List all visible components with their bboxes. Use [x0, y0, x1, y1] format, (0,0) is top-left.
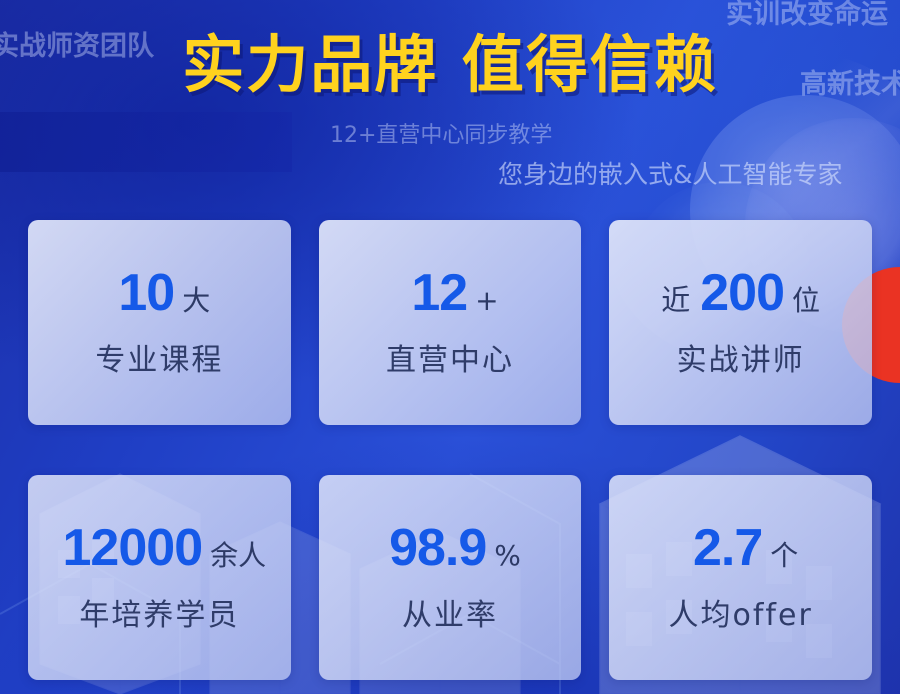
- stat-card-offers[interactable]: 2.7 个 人均offer: [609, 475, 872, 680]
- stat-card-employment-rate[interactable]: 98.9 % 从业率: [319, 475, 582, 680]
- stat-label: 年培养学员: [79, 590, 239, 634]
- stat-label: 从业率: [402, 590, 498, 634]
- stat-label: 人均offer: [669, 590, 813, 634]
- stat-card-instructors[interactable]: 近 200 位 实战讲师: [609, 220, 872, 425]
- stat-suffix: 余人: [210, 542, 266, 570]
- stats-grid: 10 大 专业课程 12 + 直营中心 近 200 位 实战讲师: [28, 220, 872, 680]
- subtitle-secondary: 您身边的嵌入式&人工智能专家: [498, 155, 843, 191]
- promo-banner: 实力品牌 值得信赖 实战师资团队 实训改变命运 高新技术 12+直营中心同步教学…: [0, 0, 900, 694]
- stat-number: 200: [700, 267, 784, 319]
- stat-number: 98.9: [389, 522, 486, 574]
- stat-suffix: 大: [182, 287, 210, 315]
- stat-number: 12000: [63, 522, 203, 574]
- stat-card-centers[interactable]: 12 + 直营中心: [319, 220, 582, 425]
- stat-suffix: 位: [792, 287, 820, 315]
- stat-value-line: 10 大: [108, 267, 210, 319]
- stat-number: 12: [411, 267, 467, 319]
- page-title: 实力品牌 值得信赖: [0, 14, 900, 104]
- stat-label: 实战讲师: [677, 335, 805, 379]
- stat-suffix: 个: [770, 542, 798, 570]
- background-dark-band: [0, 112, 292, 172]
- stat-value-line: 12 +: [401, 267, 498, 319]
- subtitle-primary: 12+直营中心同步教学: [330, 117, 552, 149]
- stat-label: 专业课程: [95, 335, 223, 379]
- stat-value-line: 98.9 %: [379, 522, 521, 574]
- stat-prefix: 近: [661, 286, 690, 315]
- stat-suffix: %: [494, 542, 521, 570]
- stat-number: 2.7: [693, 522, 762, 574]
- stat-label: 直营中心: [386, 335, 514, 379]
- stat-number: 10: [118, 267, 174, 319]
- stat-value-line: 近 200 位: [661, 267, 820, 319]
- stat-value-line: 12000 余人: [53, 522, 267, 574]
- stat-suffix: +: [475, 287, 498, 315]
- stat-card-students[interactable]: 12000 余人 年培养学员: [28, 475, 291, 680]
- stat-card-courses[interactable]: 10 大 专业课程: [28, 220, 291, 425]
- stat-value-line: 2.7 个: [683, 522, 798, 574]
